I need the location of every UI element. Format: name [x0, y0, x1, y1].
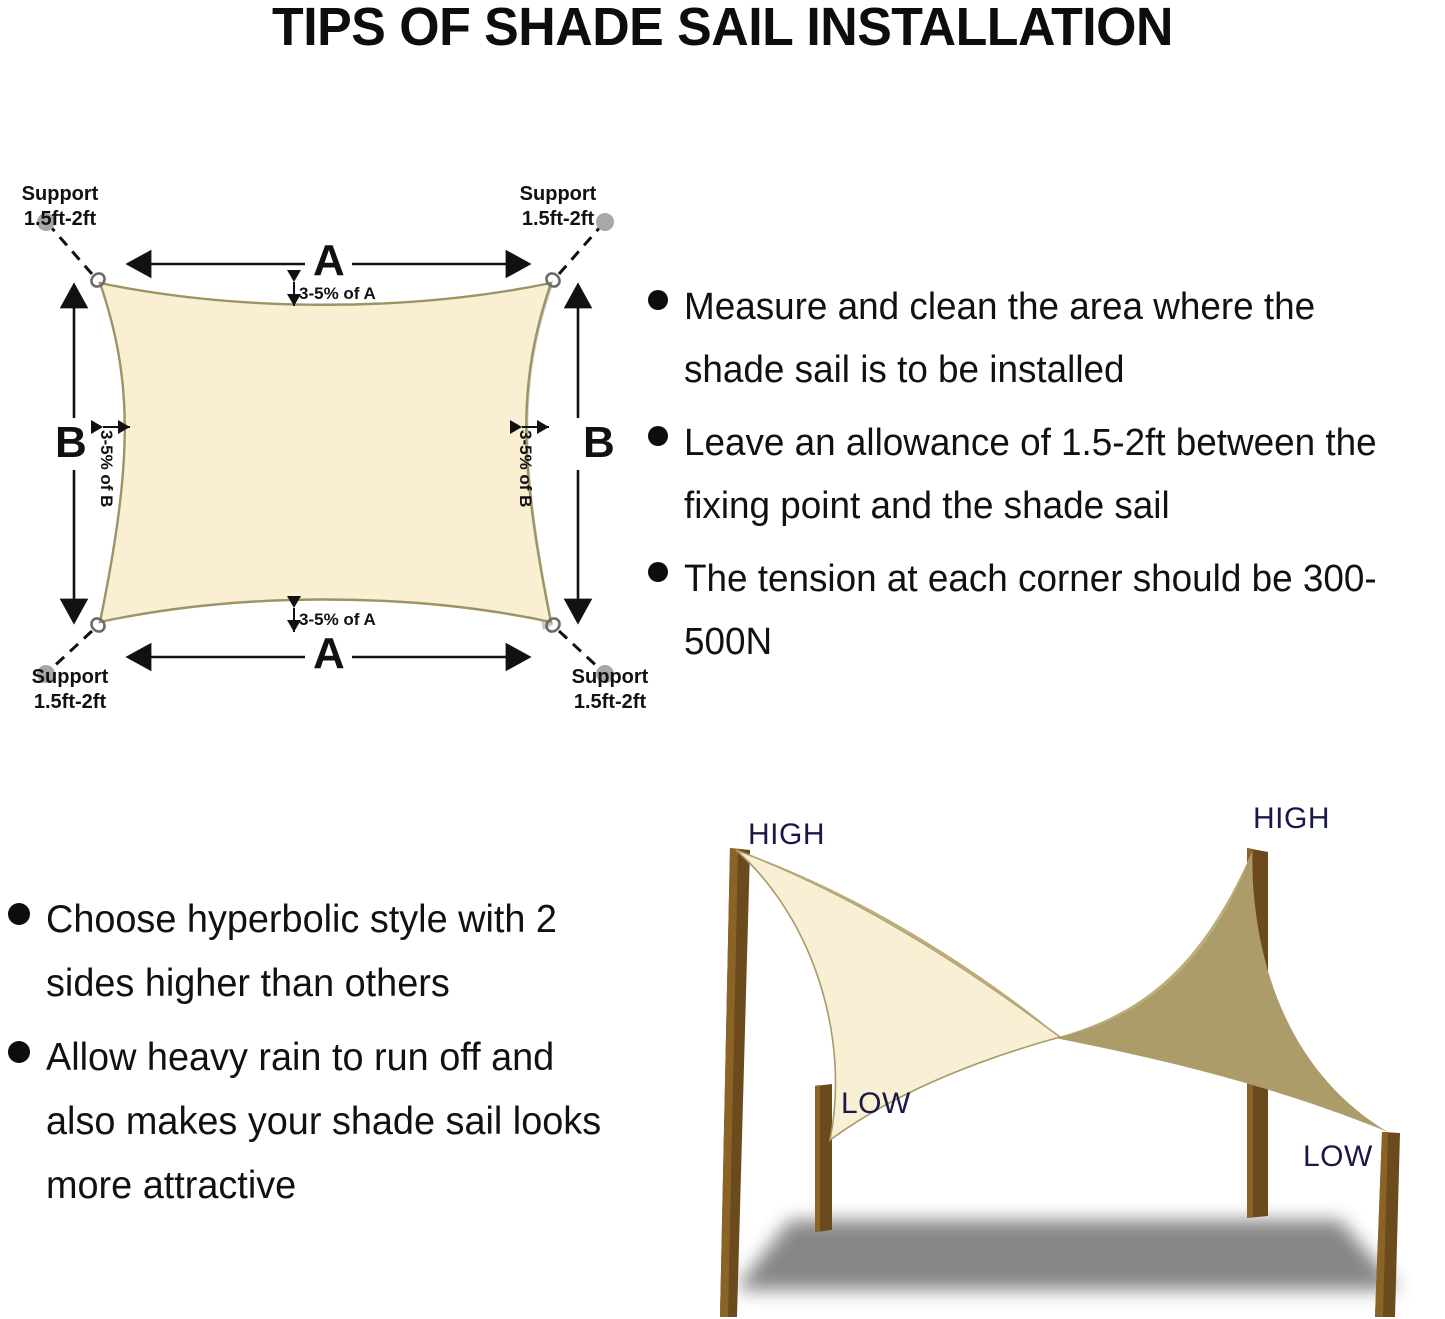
support-label-top-left: Support 1.5ft-2ft: [12, 182, 108, 232]
support-label-bottom-left: Support 1.5ft-2ft: [22, 665, 118, 715]
ground-shadow: [735, 1220, 1400, 1290]
dimension-label-b-right: B: [583, 418, 615, 468]
list-item: Measure and clean the area where the sha…: [648, 276, 1445, 402]
list-item: Choose hyperbolic style with 2 sides hig…: [8, 888, 628, 1016]
dimension-label-a-top: A: [313, 236, 345, 286]
post-low-left: [815, 1084, 832, 1232]
list-item-label: Allow heavy rain to run off and also mak…: [46, 1026, 611, 1218]
tips-list-left: Choose hyperbolic style with 2 sides hig…: [8, 888, 628, 1228]
curve-label-right: 3-5% of B: [515, 430, 535, 507]
label-high-left: HIGH: [748, 818, 825, 852]
list-item-label: Measure and clean the area where the sha…: [684, 276, 1425, 402]
label-high-right: HIGH: [1253, 802, 1330, 836]
hyperbolic-shade-sail-illustration: [640, 780, 1445, 1319]
bullet-dot-icon: [8, 1041, 30, 1063]
shade-sail-body: [100, 283, 551, 622]
dimension-label-b-left: B: [55, 418, 87, 468]
support-label-top-right: Support 1.5ft-2ft: [510, 182, 606, 232]
bullet-dot-icon: [8, 903, 30, 925]
sail-wing-right: [1055, 852, 1388, 1132]
label-low-left: LOW: [841, 1087, 911, 1121]
bullet-dot-icon: [648, 562, 668, 582]
post-high-left: [720, 848, 750, 1317]
label-low-right: LOW: [1303, 1140, 1373, 1174]
support-label-bottom-right: Support 1.5ft-2ft: [560, 665, 660, 715]
bullet-dot-icon: [648, 290, 668, 310]
list-item-label: Choose hyperbolic style with 2 sides hig…: [46, 888, 611, 1016]
dimension-label-a-bottom: A: [313, 629, 345, 679]
tips-list-right: Measure and clean the area where the sha…: [648, 276, 1445, 684]
bullet-dot-icon: [648, 426, 668, 446]
curve-label-top: 3-5% of A: [299, 284, 376, 304]
curve-label-bottom: 3-5% of A: [299, 610, 376, 630]
list-item: The tension at each corner should be 300…: [648, 548, 1445, 674]
list-item: Leave an allowance of 1.5-2ft between th…: [648, 412, 1445, 538]
list-item-label: Leave an allowance of 1.5-2ft between th…: [684, 412, 1425, 538]
list-item-label: The tension at each corner should be 300…: [684, 548, 1425, 674]
list-item: Allow heavy rain to run off and also mak…: [8, 1026, 628, 1218]
curve-label-left: 3-5% of B: [96, 430, 116, 507]
